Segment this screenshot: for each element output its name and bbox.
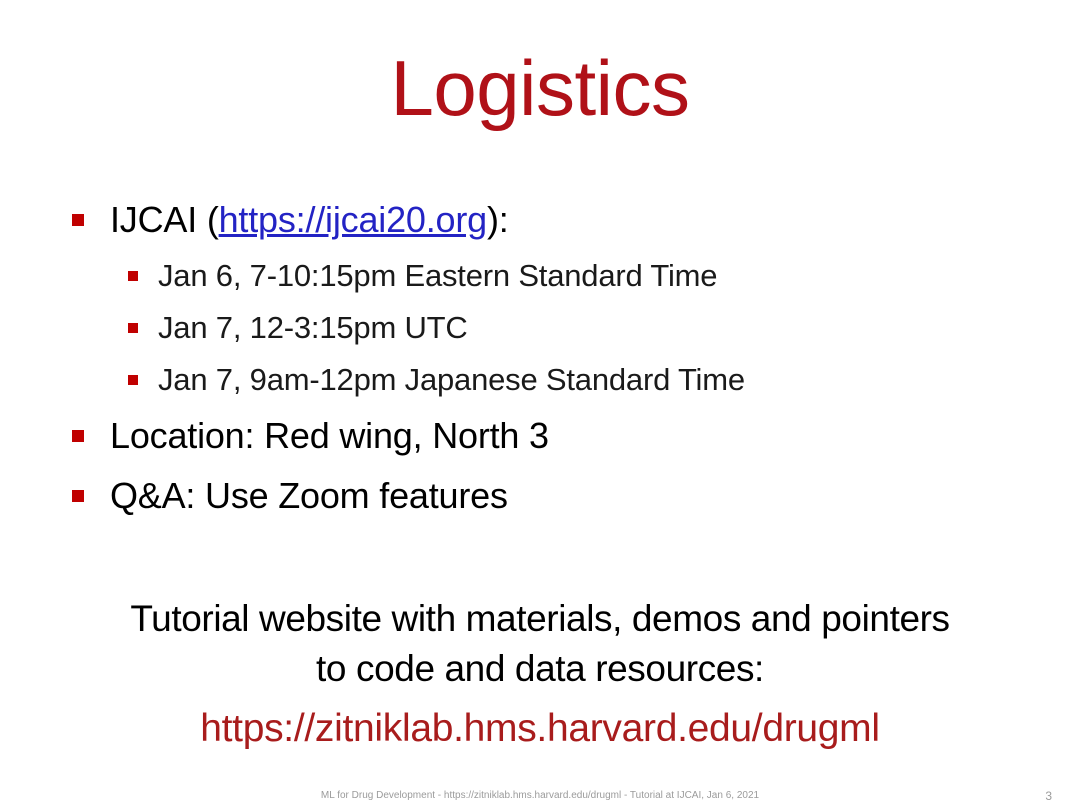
tutorial-website-callout: Tutorial website with materials, demos a… (0, 594, 1080, 754)
sub-bullet-item-eastern: Jan 6, 7-10:15pm Eastern Standard Time (62, 250, 1022, 302)
square-bullet-icon (128, 271, 138, 281)
ijcai-website-link[interactable]: https://ijcai20.org (219, 199, 487, 240)
sub-bullet-label: Jan 7, 9am-12pm Japanese Standard Time (158, 362, 745, 397)
bullet-label: Q&A: Use Zoom features (110, 475, 508, 516)
bullet-sublist-ijcai: Jan 6, 7-10:15pm Eastern Standard Time J… (62, 250, 1022, 406)
bullet-item-qa: Q&A: Use Zoom features (62, 466, 1022, 526)
square-bullet-icon (72, 490, 84, 502)
square-bullet-icon (72, 214, 84, 226)
bullet-list: IJCAI (https://ijcai20.org): Jan 6, 7-10… (62, 190, 1022, 526)
tutorial-website-url[interactable]: https://zitniklab.hms.harvard.edu/drugml (0, 704, 1080, 754)
square-bullet-icon (72, 430, 84, 442)
square-bullet-icon (128, 323, 138, 333)
sub-bullet-label: Jan 7, 12-3:15pm UTC (158, 310, 468, 345)
footer-note: ML for Drug Development - https://zitnik… (0, 789, 1080, 803)
page-number: 3 (1045, 788, 1052, 804)
square-bullet-icon (128, 375, 138, 385)
callout-line-1: Tutorial website with materials, demos a… (0, 594, 1080, 644)
sub-bullet-item-japanese: Jan 7, 9am-12pm Japanese Standard Time (62, 354, 1022, 406)
slide-canvas: Logistics IJCAI (https://ijcai20.org): J… (0, 0, 1080, 810)
bullet-text-suffix: ): (487, 199, 509, 240)
callout-line-2: to code and data resources: (0, 644, 1080, 694)
bullet-text-prefix: IJCAI ( (110, 199, 219, 240)
sub-bullet-item-utc: Jan 7, 12-3:15pm UTC (62, 302, 1022, 354)
sub-bullet-label: Jan 6, 7-10:15pm Eastern Standard Time (158, 258, 717, 293)
page-title: Logistics (0, 44, 1080, 132)
bullet-label: Location: Red wing, North 3 (110, 415, 549, 456)
bullet-item-location: Location: Red wing, North 3 (62, 406, 1022, 466)
bullet-item-ijcai: IJCAI (https://ijcai20.org): (62, 190, 1022, 250)
